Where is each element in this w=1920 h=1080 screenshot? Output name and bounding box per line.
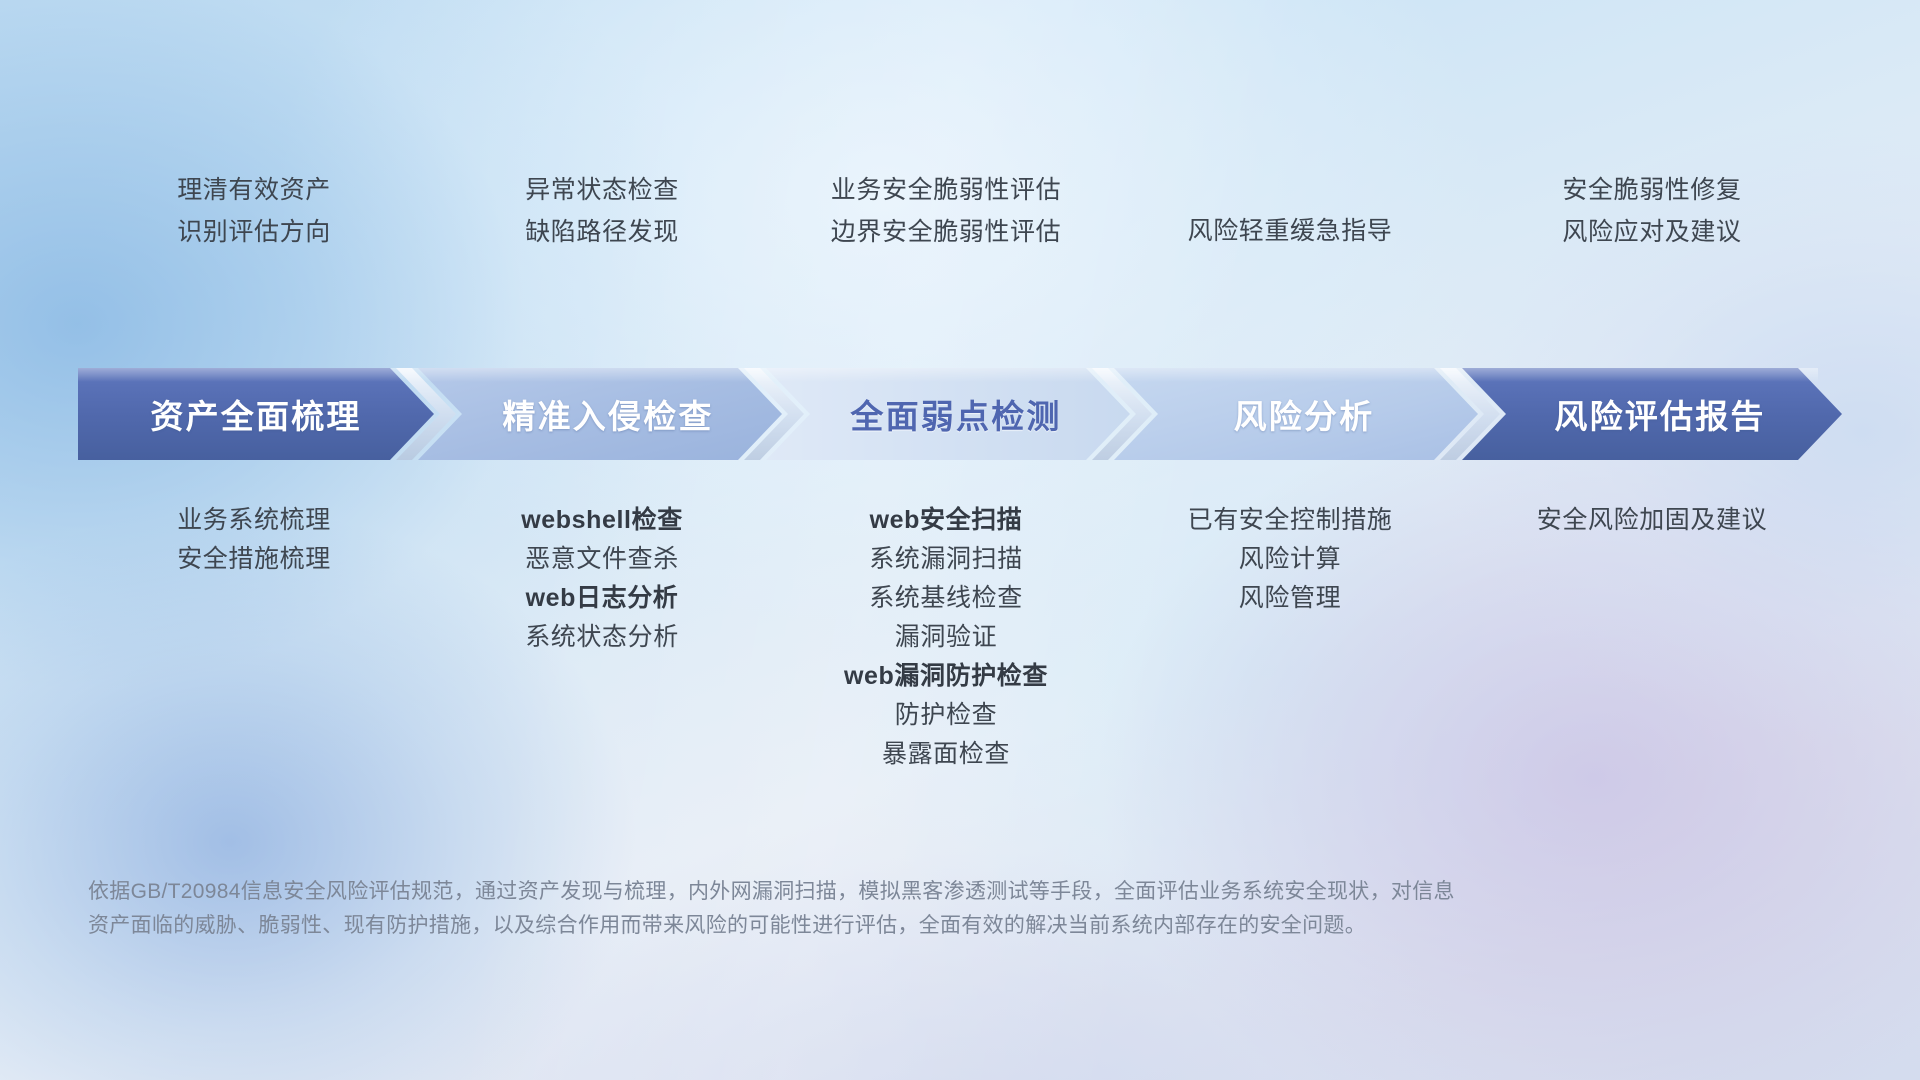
list-item: 暴露面检查 <box>882 742 1010 767</box>
footer-line-2: 资产面临的威胁、脆弱性、现有防护措施，以及综合作用而带来风险的可能性进行评估，全… <box>88 909 1648 943</box>
process-arrow-band: 资产全面梳理 精准入侵检查 全面弱点检测 风险分析 风险评估报告 <box>78 368 1842 460</box>
list-item: 风险计算 <box>1239 547 1341 572</box>
list-item: 业务系统梳理 <box>177 508 331 533</box>
list-item: 缺陷路径发现 <box>525 220 679 245</box>
top-items-stage-2: 异常状态检查 缺陷路径发现 <box>430 178 774 262</box>
bottom-items-stage-2: webshell检查 恶意文件查杀 web日志分析 系统状态分析 <box>430 508 774 664</box>
list-item: 风险轻重缓急指导 <box>1188 219 1393 244</box>
list-item: 系统漏洞扫描 <box>869 547 1023 572</box>
top-items-stage-4: 风险轻重缓急指导 <box>1118 178 1462 261</box>
list-item: 已有安全控制措施 <box>1188 508 1393 533</box>
top-items-row: 理清有效资产 识别评估方向 异常状态检查 缺陷路径发现 业务安全脆弱性评估 边界… <box>78 178 1842 262</box>
top-items-stage-3: 业务安全脆弱性评估 边界安全脆弱性评估 <box>774 178 1118 262</box>
list-item: web漏洞防护检查 <box>844 664 1048 689</box>
arrow-band-sheen <box>78 368 1818 382</box>
list-item: 系统基线检查 <box>869 586 1023 611</box>
list-item: 理清有效资产 <box>177 178 331 203</box>
top-items-stage-1: 理清有效资产 识别评估方向 <box>78 178 430 262</box>
list-item: 安全风险加固及建议 <box>1537 508 1767 533</box>
slide-canvas: 理清有效资产 识别评估方向 异常状态检查 缺陷路径发现 业务安全脆弱性评估 边界… <box>0 0 1920 1080</box>
list-item: web安全扫描 <box>870 508 1023 533</box>
top-items-stage-5: 安全脆弱性修复 风险应对及建议 <box>1462 178 1842 262</box>
list-item: 漏洞验证 <box>895 625 997 650</box>
bottom-items-stage-4: 已有安全控制措施 风险计算 风险管理 <box>1118 508 1462 625</box>
list-item: 系统状态分析 <box>525 625 679 650</box>
list-item: 风险管理 <box>1239 586 1341 611</box>
bottom-items-stage-1: 业务系统梳理 安全措施梳理 <box>78 508 430 586</box>
bottom-items-row: 业务系统梳理 安全措施梳理 webshell检查 恶意文件查杀 web日志分析 … <box>78 508 1842 781</box>
list-item: web日志分析 <box>526 586 679 611</box>
list-item: 业务安全脆弱性评估 <box>831 178 1061 203</box>
footer-description: 依据GB/T20984信息安全风险评估规范，通过资产发现与梳理，内外网漏洞扫描，… <box>88 875 1648 943</box>
list-item: 防护检查 <box>895 703 997 728</box>
list-item: 边界安全脆弱性评估 <box>831 220 1061 245</box>
list-item: webshell检查 <box>521 508 683 533</box>
bottom-items-stage-3: web安全扫描 系统漏洞扫描 系统基线检查 漏洞验证 web漏洞防护检查 防护检… <box>774 508 1118 781</box>
list-item: 安全措施梳理 <box>177 547 331 572</box>
list-item: 风险应对及建议 <box>1562 220 1741 245</box>
footer-line-1: 依据GB/T20984信息安全风险评估规范，通过资产发现与梳理，内外网漏洞扫描，… <box>88 875 1648 909</box>
list-item: 异常状态检查 <box>525 178 679 203</box>
bottom-items-stage-5: 安全风险加固及建议 <box>1462 508 1842 547</box>
list-item: 识别评估方向 <box>177 220 331 245</box>
list-item: 安全脆弱性修复 <box>1562 178 1741 203</box>
list-item: 恶意文件查杀 <box>525 547 679 572</box>
